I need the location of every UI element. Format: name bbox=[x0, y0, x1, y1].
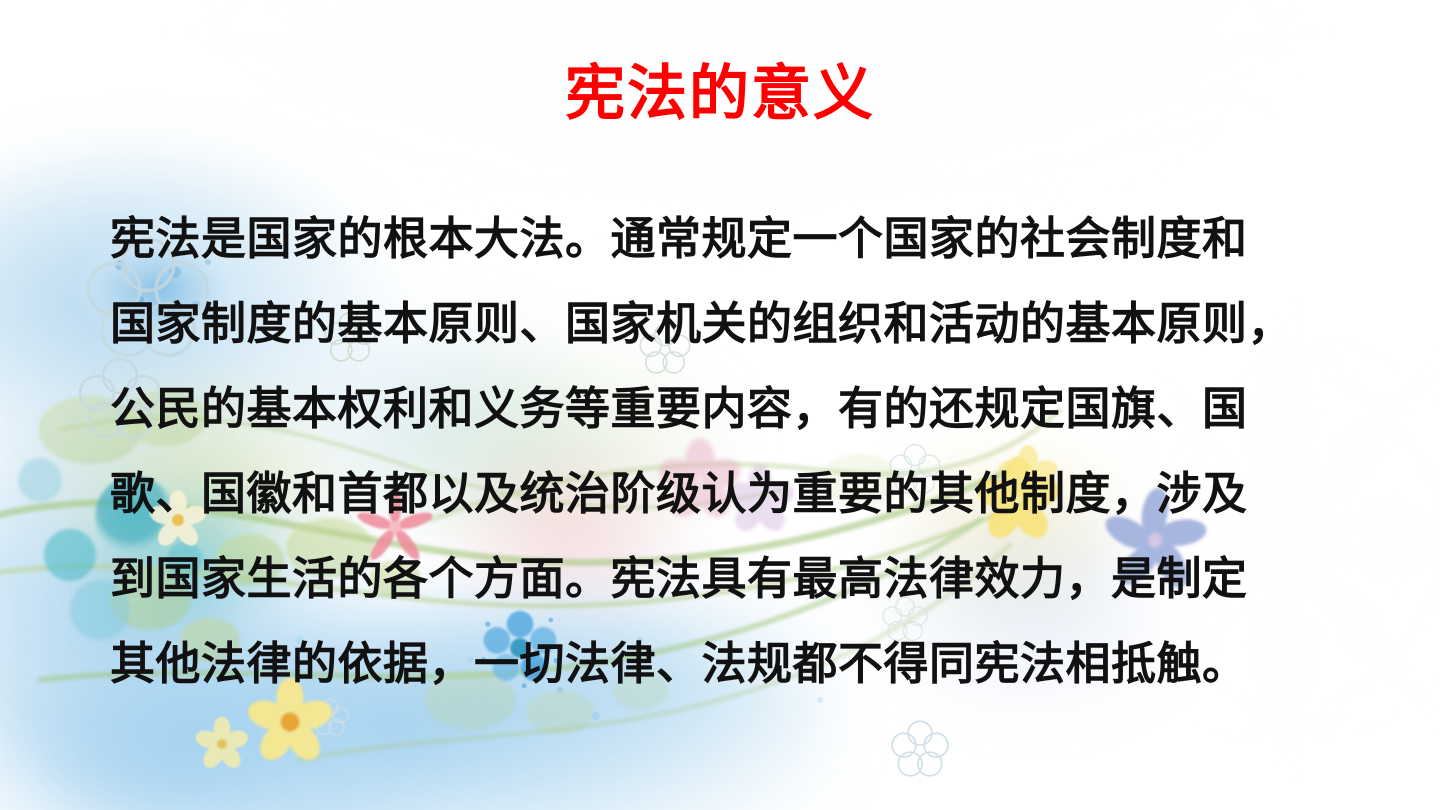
body-line: 歌、国徽和首都以及统治阶级认为重要的其他制度，涉及 bbox=[110, 451, 1332, 536]
slide-content: 宪法的意义 宪法是国家的根本大法。通常规定一个国家的社会制度和 国家制度的基本原… bbox=[0, 0, 1440, 810]
page-title: 宪法的意义 bbox=[0, 62, 1440, 127]
body-line: 其他法律的依据，一切法律、法规都不得同宪法相抵触。 bbox=[110, 621, 1332, 706]
presentation-slide: 宪法的意义 宪法是国家的根本大法。通常规定一个国家的社会制度和 国家制度的基本原… bbox=[0, 0, 1440, 810]
body-line: 宪法是国家的根本大法。通常规定一个国家的社会制度和 bbox=[110, 196, 1332, 281]
body-line: 国家制度的基本原则、国家机关的组织和活动的基本原则， bbox=[110, 281, 1332, 366]
body-line: 到国家生活的各个方面。宪法具有最高法律效力，是制定 bbox=[110, 536, 1332, 621]
body-line: 公民的基本权利和义务等重要内容，有的还规定国旗、国 bbox=[110, 366, 1332, 451]
body-text-block: 宪法是国家的根本大法。通常规定一个国家的社会制度和 国家制度的基本原则、国家机关… bbox=[110, 196, 1332, 706]
